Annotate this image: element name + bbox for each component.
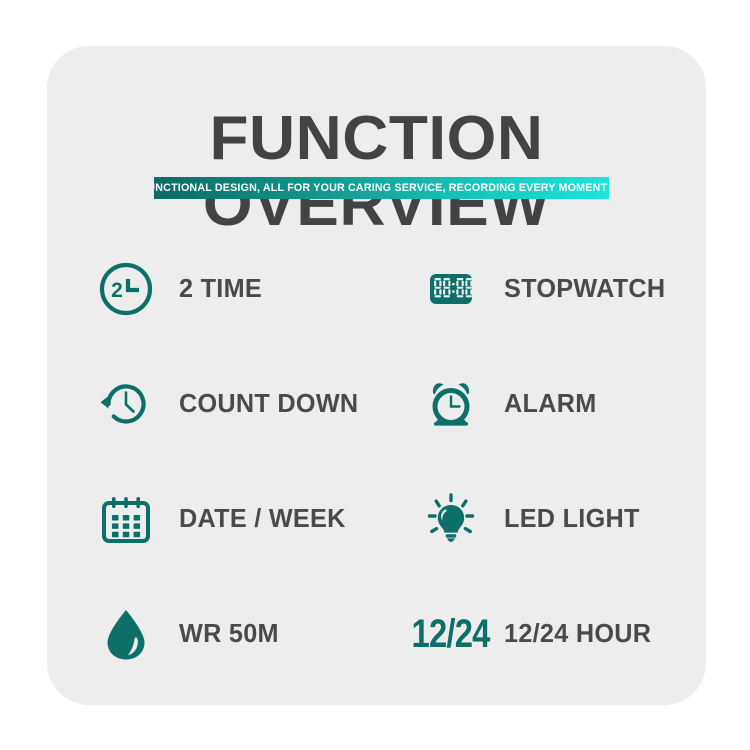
page-title: FUNCTION OVERVIEW [37, 106, 716, 238]
subtitle-banner: EACH FUNCTIONAL DESIGN, ALL FOR YOUR CAR… [154, 177, 609, 199]
feature-item-stopwatch[interactable]: STOPWATCH [372, 231, 706, 346]
water-drop-icon [95, 603, 157, 665]
stopwatch-digital-icon [420, 258, 482, 320]
feature-item-12-24-hour[interactable]: 12/24 12/24 HOUR [372, 576, 706, 691]
feature-label: 2 TIME [179, 273, 262, 304]
subtitle-text: EACH FUNCTIONAL DESIGN, ALL FOR YOUR CAR… [154, 182, 609, 194]
feature-grid: 2 2 TIME [47, 231, 706, 691]
alarm-clock-icon [420, 373, 482, 435]
function-overview-page: FUNCTION OVERVIEW EACH FUNCTIONAL DESIGN… [0, 0, 750, 750]
feature-label: LED LIGHT [504, 503, 640, 534]
feature-item-led-light[interactable]: LED LIGHT [372, 461, 706, 576]
twelve-twentyfour-text: 12/24 [412, 614, 490, 654]
calendar-icon [95, 488, 157, 550]
feature-label: ALARM [504, 388, 597, 419]
feature-label: WR 50M [179, 618, 279, 649]
svg-text:2: 2 [111, 279, 123, 302]
countdown-clock-icon [95, 373, 157, 435]
feature-item-alarm[interactable]: ALARM [372, 346, 706, 461]
feature-item-count-down[interactable]: COUNT DOWN [47, 346, 372, 461]
feature-label: STOPWATCH [504, 273, 665, 304]
feature-item-date-week[interactable]: DATE / WEEK [47, 461, 372, 576]
feature-label: 12/24 HOUR [504, 618, 651, 649]
feature-label: COUNT DOWN [179, 388, 358, 419]
lightbulb-icon [420, 488, 482, 550]
feature-item-2-time[interactable]: 2 2 TIME [47, 231, 372, 346]
feature-item-wr-50m[interactable]: WR 50M [47, 576, 372, 691]
feature-label: DATE / WEEK [179, 503, 346, 534]
two-time-clock-icon: 2 [95, 258, 157, 320]
feature-card: FUNCTION OVERVIEW EACH FUNCTIONAL DESIGN… [47, 46, 706, 705]
twelve-twentyfour-text-icon: 12/24 [420, 603, 482, 665]
